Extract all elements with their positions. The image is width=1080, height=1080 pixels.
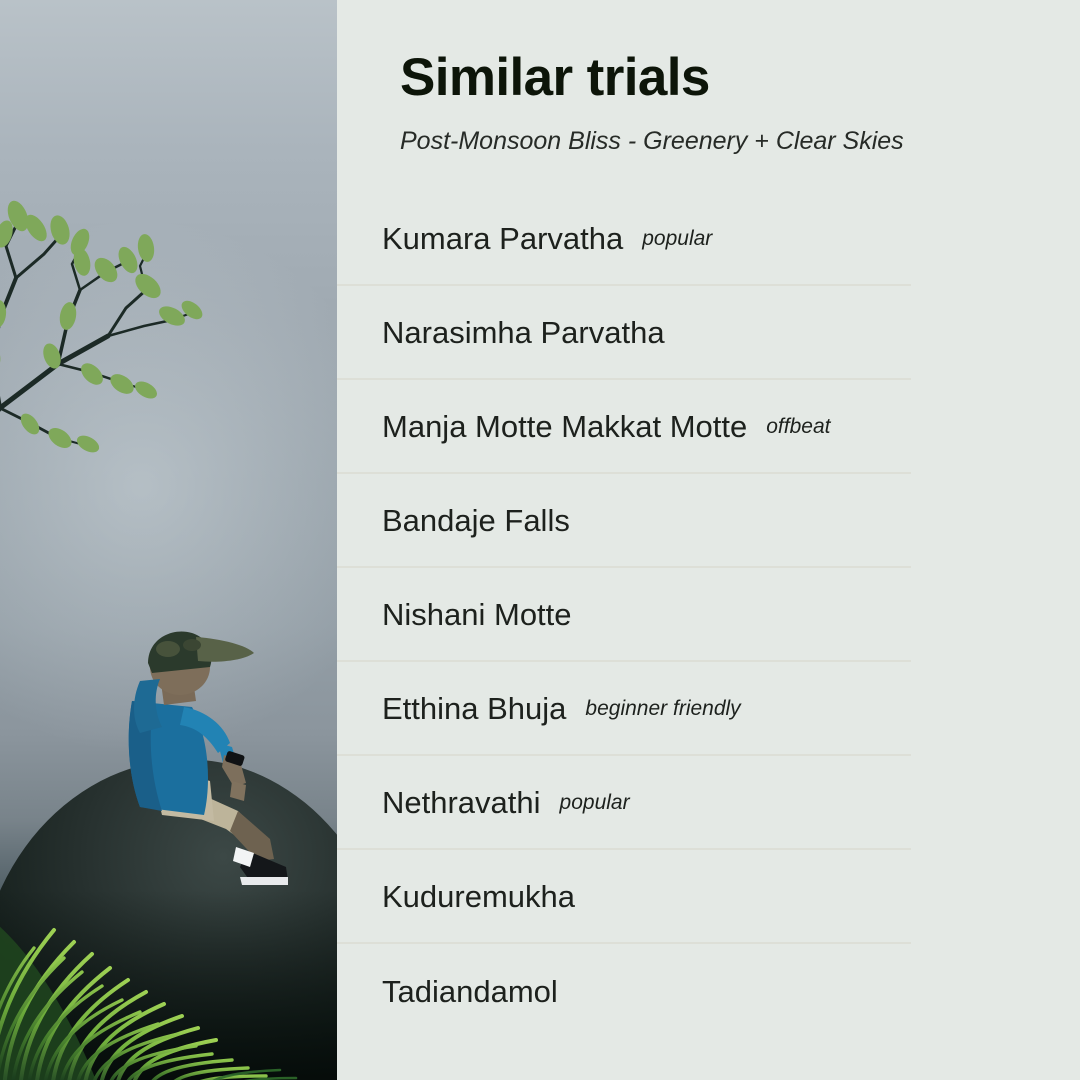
grass-graphic <box>0 790 337 1080</box>
trials-panel: Similar trials Post-Monsoon Bliss - Gree… <box>337 0 1080 1080</box>
trial-tag: beginner friendly <box>585 698 740 719</box>
trial-name: Kumara Parvatha <box>382 223 623 254</box>
trial-name: Narasimha Parvatha <box>382 317 665 348</box>
list-item[interactable]: Bandaje Falls <box>337 474 911 568</box>
list-item[interactable]: Narasimha Parvatha <box>337 286 911 380</box>
list-item[interactable]: Kumara Parvatha popular <box>337 192 911 286</box>
trial-tag: popular <box>642 228 712 249</box>
list-item[interactable]: Etthina Bhuja beginner friendly <box>337 662 911 756</box>
trial-tag: popular <box>560 792 630 813</box>
list-item[interactable]: Manja Motte Makkat Motte offbeat <box>337 380 911 474</box>
poster-card: Similar trials Post-Monsoon Bliss - Gree… <box>0 0 1080 1080</box>
trial-name: Tadiandamol <box>382 976 558 1007</box>
trial-name: Kuduremukha <box>382 881 575 912</box>
trial-name: Manja Motte Makkat Motte <box>382 411 747 442</box>
hero-photo <box>0 0 337 1080</box>
trial-name: Nishani Motte <box>382 599 572 630</box>
trial-name: Nethravathi <box>382 787 541 818</box>
list-item[interactable]: Nethravathi popular <box>337 756 911 850</box>
page-subtitle: Post-Monsoon Bliss - Greenery + Clear Sk… <box>400 127 904 156</box>
trial-name: Bandaje Falls <box>382 505 570 536</box>
list-item[interactable]: Nishani Motte <box>337 568 911 662</box>
tree-branch-graphic <box>0 150 220 480</box>
page-title: Similar trials <box>400 51 710 104</box>
similar-trials-list: Kumara Parvatha popular Narasimha Parvat… <box>337 192 911 1038</box>
list-item[interactable]: Kuduremukha <box>337 850 911 944</box>
trial-tag: offbeat <box>766 416 830 437</box>
list-item[interactable]: Tadiandamol <box>337 944 911 1038</box>
trial-name: Etthina Bhuja <box>382 693 566 724</box>
